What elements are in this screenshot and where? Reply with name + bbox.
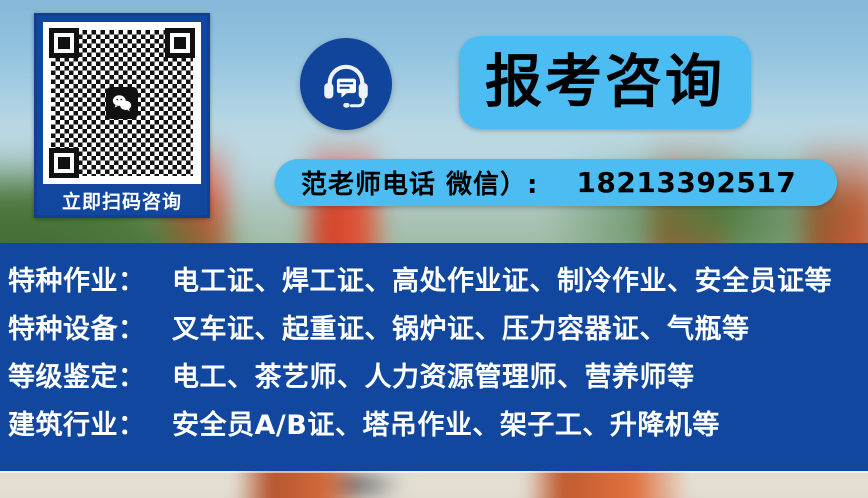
category-row: 建筑行业： 安全员A/B证、塔吊作业、架子工、升降机等 [0,403,868,451]
category-name: 等级鉴定： [8,355,172,394]
contact-phone-number[interactable]: 18213392517 [576,166,796,199]
qr-finder-top-right [165,28,195,58]
category-name: 特种作业： [8,259,172,298]
panel-divider [0,471,868,473]
qr-code-image[interactable] [43,22,201,184]
category-name: 建筑行业： [8,403,172,442]
qr-finder-bottom-left [49,148,79,178]
category-items: 叉车证、起重证、锅炉证、压力容器证、气瓶等 [172,307,750,346]
title-pill: 报考咨询 [459,36,751,129]
certificate-categories-panel: 特种作业： 电工证、焊工证、高处作业证、制冷作业、安全员证等 特种设备： 叉车证… [0,243,868,471]
category-items: 电工证、焊工证、高处作业证、制冷作业、安全员证等 [172,259,832,298]
qr-finder-top-left [49,28,79,58]
contact-pill[interactable]: 范老师电话 微信）: 18213392517 [275,159,837,206]
contact-label: 范老师电话 微信）: [301,164,538,201]
wechat-icon [106,87,138,119]
category-items: 电工、茶艺师、人力资源管理师、营养师等 [172,355,695,394]
qr-card[interactable]: 立即扫码咨询 [34,13,210,218]
page-title: 报考咨询 [485,54,725,111]
category-row: 特种作业： 电工证、焊工证、高处作业证、制冷作业、安全员证等 [0,259,868,307]
headset-support-icon [300,38,392,130]
category-row: 等级鉴定： 电工、茶艺师、人力资源管理师、营养师等 [0,355,868,403]
category-name: 特种设备： [8,307,172,346]
category-row: 特种设备： 叉车证、起重证、锅炉证、压力容器证、气瓶等 [0,307,868,355]
promo-banner: 立即扫码咨询 报考咨询 范老师电话 微信）: 18213392517 [0,0,868,498]
bottom-photo-strip-image [0,471,868,498]
category-items: 安全员A/B证、塔吊作业、架子工、升降机等 [172,403,720,442]
bottom-photo-strip [0,471,868,498]
qr-caption: 立即扫码咨询 [43,184,201,220]
